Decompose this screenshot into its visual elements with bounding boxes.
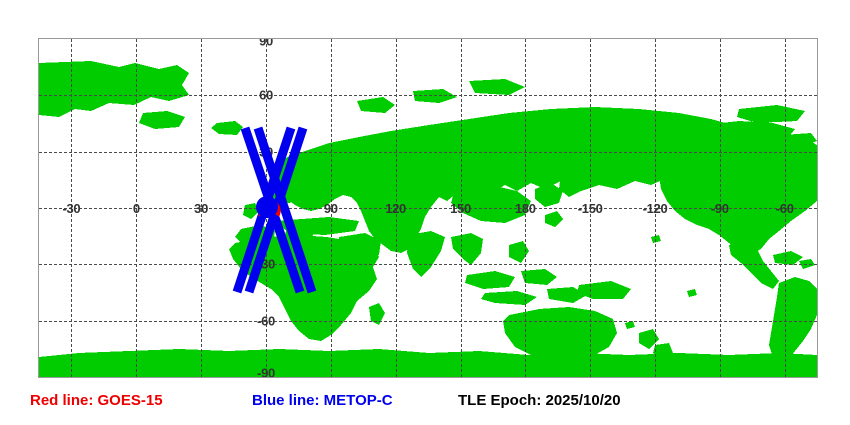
world-map-landmass xyxy=(39,39,817,377)
world-map: -30 0 30 60 90 120 150 180 -150 -120 -90… xyxy=(38,38,818,378)
lon-tick-label: 120 xyxy=(385,201,406,216)
legend-blue-line: Blue line: METOP-C xyxy=(252,392,393,409)
lat-tick-label: -90 xyxy=(257,366,275,379)
lon-tick-label: -150 xyxy=(578,201,603,216)
lon-tick-label: 0 xyxy=(133,201,140,216)
lon-tick-label: -60 xyxy=(776,201,794,216)
lon-tick-label: 30 xyxy=(194,201,208,216)
lon-tick-label: 60 xyxy=(259,201,273,216)
lat-tick-label: -30 xyxy=(257,257,275,272)
lon-tick-label: -90 xyxy=(711,201,729,216)
lon-tick-label: -120 xyxy=(643,201,668,216)
lat-tick-label: 30 xyxy=(259,144,273,159)
lon-tick-label: 90 xyxy=(324,201,338,216)
satellite-tracker-page: -30 0 30 60 90 120 150 180 -150 -120 -90… xyxy=(0,0,850,425)
lat-tick-label: 60 xyxy=(259,88,273,103)
lon-tick-label: -30 xyxy=(62,201,80,216)
lat-tick-label: 90 xyxy=(259,38,273,49)
lon-tick-label: 180 xyxy=(515,201,536,216)
legend-red-line: Red line: GOES-15 xyxy=(30,392,163,409)
legend-footer: Red line: GOES-15 Blue line: METOP-C TLE… xyxy=(0,392,850,422)
lat-tick-label: -60 xyxy=(257,313,275,328)
tle-epoch-label: TLE Epoch: 2025/10/20 xyxy=(458,392,621,409)
lon-tick-label: 150 xyxy=(450,201,471,216)
